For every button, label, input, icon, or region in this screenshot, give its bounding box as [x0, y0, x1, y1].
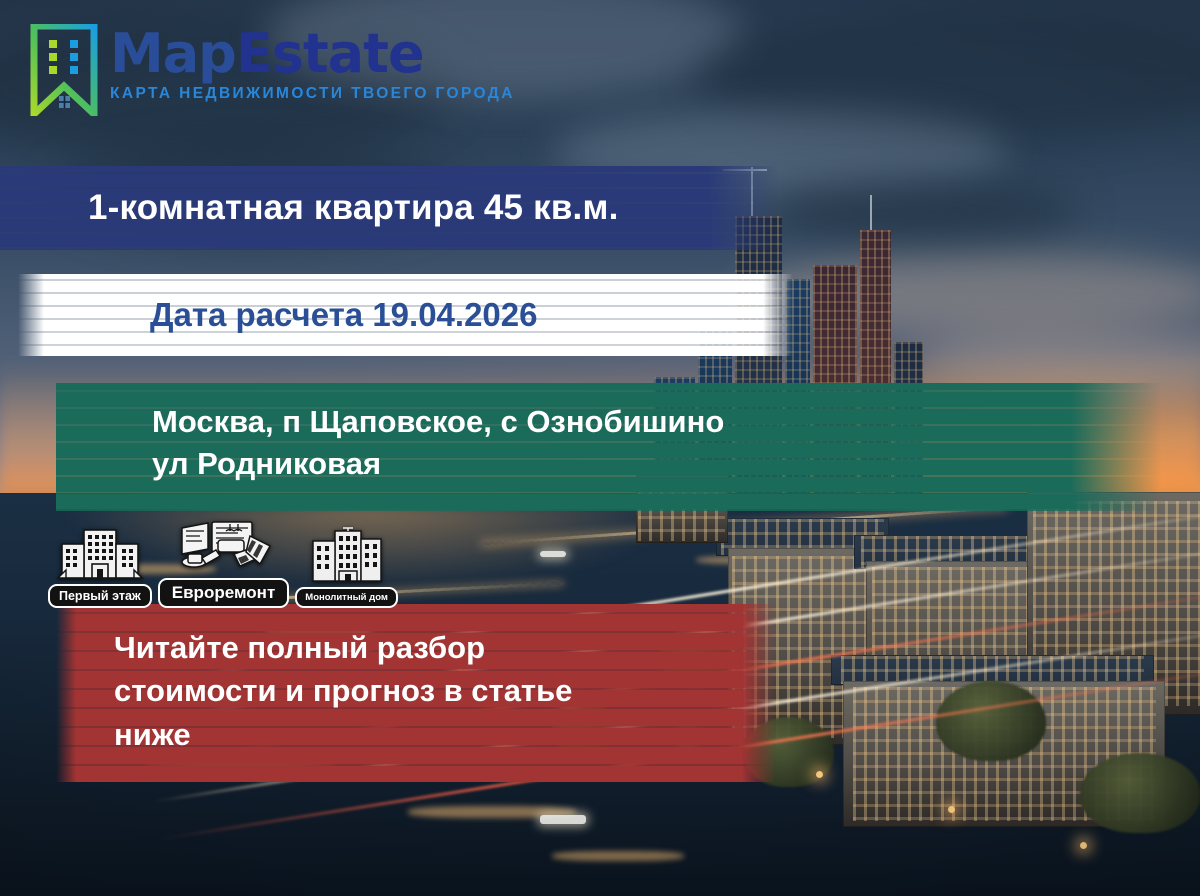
cta-line-2: стоимости и прогноз в статье — [114, 669, 572, 712]
calculation-date: Дата расчета 19.04.2026 — [18, 296, 537, 334]
brand-tagline: КАРТА НЕДВИЖИМОСТИ ТВОЕГО ГОРОДА — [110, 85, 515, 103]
address-line-1: Москва, п Щаповское, с Ознобишино — [152, 401, 724, 443]
cta-band[interactable]: Читайте полный разбор стоимости и прогно… — [56, 604, 776, 782]
apartment-building-icon — [54, 528, 146, 588]
cta-line-1: Читайте полный разбор — [114, 626, 572, 669]
cta-line-3: ниже — [114, 713, 572, 756]
property-title-band: 1-комнатная квартира 45 кв.м. — [0, 166, 778, 250]
badge-first-floor[interactable]: Первый этаж — [48, 528, 152, 608]
feature-badges: Первый этаж — [48, 518, 398, 608]
address-band: Москва, п Щаповское, с Ознобишино ул Род… — [56, 383, 1161, 511]
badge-label: Первый этаж — [48, 584, 152, 608]
badge-label: Евроремонт — [158, 578, 290, 608]
badge-monolithic-house[interactable]: Монолитный дом — [295, 527, 398, 608]
cta-text: Читайте полный разбор стоимости и прогно… — [56, 604, 602, 756]
badge-label: Монолитный дом — [295, 587, 398, 608]
address-line-2: ул Родниковая — [152, 443, 724, 485]
property-title: 1-комнатная квартира 45 кв.м. — [0, 188, 619, 228]
bookmark-building-icon — [30, 24, 98, 116]
badge-euro-renovation[interactable]: Евроремонт — [158, 518, 290, 608]
brand-wordmark: MapEstate КАРТА НЕДВИЖИМОСТИ ТВОЕГО ГОРО… — [110, 24, 515, 103]
brand-name-map: Map — [110, 22, 236, 85]
brand-name-estate: Estate — [236, 22, 424, 85]
calculation-date-band: Дата расчета 19.04.2026 — [18, 274, 793, 356]
monolithic-house-icon — [303, 527, 391, 591]
brand-logo[interactable]: MapEstate КАРТА НЕДВИЖИМОСТИ ТВОЕГО ГОРО… — [30, 24, 515, 116]
renovation-tools-icon — [172, 518, 276, 582]
address-text: Москва, п Щаповское, с Ознобишино ул Род… — [56, 383, 724, 485]
